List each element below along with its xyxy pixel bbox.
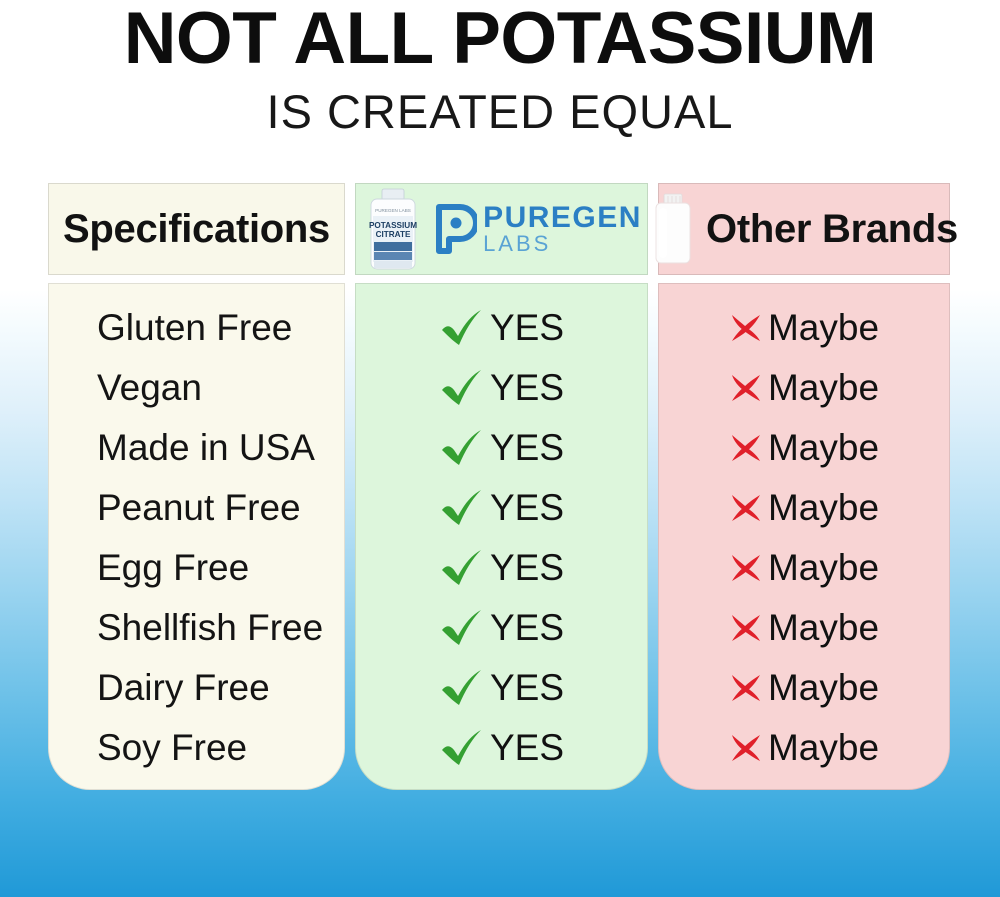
maybe-value: Maybe [729, 427, 879, 469]
other-value-label: Maybe [768, 307, 879, 349]
spec-label: Vegan [97, 367, 202, 409]
spec-row: Soy Free [49, 718, 344, 778]
header-cell-other-brands: Other Brands [658, 183, 950, 275]
maybe-value: Maybe [729, 367, 879, 409]
check-icon [439, 668, 485, 708]
other-brand-value-row: Maybe [659, 718, 949, 778]
puregen-brand-lockup: PUREGEN LABS POTASSIUM CITRATE PUREGEN [361, 186, 642, 272]
other-brand-value-row: Maybe [659, 358, 949, 418]
other-brands-header-label: Other Brands [706, 207, 958, 252]
spec-label: Made in USA [97, 427, 315, 469]
x-icon [729, 731, 763, 765]
maybe-value: Maybe [729, 487, 879, 529]
brand-value-label: YES [490, 367, 564, 409]
maybe-value: Maybe [729, 667, 879, 709]
yes-value: YES [439, 727, 564, 769]
puregen-values-column: YES YES YES YES YES YES YES YES [355, 283, 648, 790]
check-icon [439, 488, 485, 528]
x-icon [729, 671, 763, 705]
spec-row: Gluten Free [49, 298, 344, 358]
check-icon [439, 308, 485, 348]
puregen-value-row: YES [356, 658, 647, 718]
other-brand-value-row: Maybe [659, 538, 949, 598]
product-bottle-image: PUREGEN LABS POTASSIUM CITRATE [361, 186, 425, 272]
specifications-column: Gluten FreeVeganMade in USAPeanut FreeEg… [48, 283, 345, 790]
spec-label: Dairy Free [97, 667, 270, 709]
svg-text:PUREGEN LABS: PUREGEN LABS [375, 208, 411, 213]
yes-value: YES [439, 307, 564, 349]
yes-value: YES [439, 427, 564, 469]
maybe-value: Maybe [729, 547, 879, 589]
other-brands-value-list: Maybe Maybe Maybe Maybe Maybe Maybe Mayb… [659, 284, 949, 789]
check-icon [439, 428, 485, 468]
other-value-label: Maybe [768, 547, 879, 589]
puregen-value-row: YES [356, 298, 647, 358]
table-header-row: Specifications PUREGEN LABS POTASSIUM CI… [0, 183, 1000, 275]
yes-value: YES [439, 607, 564, 649]
other-brand-value-row: Maybe [659, 478, 949, 538]
x-icon [729, 611, 763, 645]
brand-value-label: YES [490, 547, 564, 589]
comparison-table: Specifications PUREGEN LABS POTASSIUM CI… [0, 183, 1000, 790]
puregen-logo-sub: LABS [483, 234, 642, 253]
check-icon [439, 548, 485, 588]
brand-value-label: YES [490, 487, 564, 529]
puregen-value-list: YES YES YES YES YES YES YES YES [356, 284, 647, 789]
maybe-value: Maybe [729, 727, 879, 769]
other-brands-values-column: Maybe Maybe Maybe Maybe Maybe Maybe Mayb… [658, 283, 950, 790]
puregen-p-logo-icon [431, 202, 477, 256]
specification-list: Gluten FreeVeganMade in USAPeanut FreeEg… [49, 284, 344, 789]
spec-label: Peanut Free [97, 487, 301, 529]
other-value-label: Maybe [768, 487, 879, 529]
maybe-value: Maybe [729, 307, 879, 349]
check-icon [439, 728, 485, 768]
other-brands-lockup: Other Brands [650, 192, 958, 266]
yes-value: YES [439, 667, 564, 709]
spec-label: Gluten Free [97, 307, 292, 349]
x-icon [729, 551, 763, 585]
header-cell-puregen-labs: PUREGEN LABS POTASSIUM CITRATE PUREGEN [355, 183, 648, 275]
specifications-header-label: Specifications [63, 207, 330, 252]
header-cell-specifications: Specifications [48, 183, 345, 275]
brand-value-label: YES [490, 607, 564, 649]
other-value-label: Maybe [768, 667, 879, 709]
page-title: NOT ALL POTASSIUM [0, 2, 1000, 76]
check-icon [439, 608, 485, 648]
x-icon [729, 371, 763, 405]
spec-row: Made in USA [49, 418, 344, 478]
generic-bottle-icon [650, 192, 696, 266]
maybe-value: Maybe [729, 607, 879, 649]
yes-value: YES [439, 547, 564, 589]
spec-row: Dairy Free [49, 658, 344, 718]
svg-text:CITRATE: CITRATE [376, 230, 411, 239]
brand-value-label: YES [490, 727, 564, 769]
heading-block: NOT ALL POTASSIUM IS CREATED EQUAL [0, 0, 1000, 138]
table-body-row: Gluten FreeVeganMade in USAPeanut FreeEg… [0, 283, 1000, 790]
puregen-value-row: YES [356, 598, 647, 658]
x-icon [729, 431, 763, 465]
other-brand-value-row: Maybe [659, 298, 949, 358]
other-value-label: Maybe [768, 367, 879, 409]
page-subtitle: IS CREATED EQUAL [0, 86, 1000, 138]
puregen-wordmark: PUREGEN LABS [483, 205, 642, 254]
spec-label: Egg Free [97, 547, 249, 589]
puregen-value-row: YES [356, 418, 647, 478]
spec-row: Peanut Free [49, 478, 344, 538]
brand-value-label: YES [490, 427, 564, 469]
x-icon [729, 311, 763, 345]
other-brand-value-row: Maybe [659, 418, 949, 478]
spec-row: Egg Free [49, 538, 344, 598]
brand-value-label: YES [490, 307, 564, 349]
puregen-value-row: YES [356, 538, 647, 598]
yes-value: YES [439, 487, 564, 529]
puregen-value-row: YES [356, 718, 647, 778]
puregen-value-row: YES [356, 478, 647, 538]
yes-value: YES [439, 367, 564, 409]
puregen-value-row: YES [356, 358, 647, 418]
spec-label: Shellfish Free [97, 607, 323, 649]
other-value-label: Maybe [768, 427, 879, 469]
svg-text:POTASSIUM: POTASSIUM [369, 221, 417, 230]
other-brand-value-row: Maybe [659, 658, 949, 718]
check-icon [439, 368, 485, 408]
other-brand-value-row: Maybe [659, 598, 949, 658]
brand-value-label: YES [490, 667, 564, 709]
spec-label: Soy Free [97, 727, 247, 769]
spec-row: Vegan [49, 358, 344, 418]
x-icon [729, 491, 763, 525]
other-value-label: Maybe [768, 607, 879, 649]
spec-row: Shellfish Free [49, 598, 344, 658]
other-value-label: Maybe [768, 727, 879, 769]
puregen-logo-main: PUREGEN [483, 205, 642, 231]
